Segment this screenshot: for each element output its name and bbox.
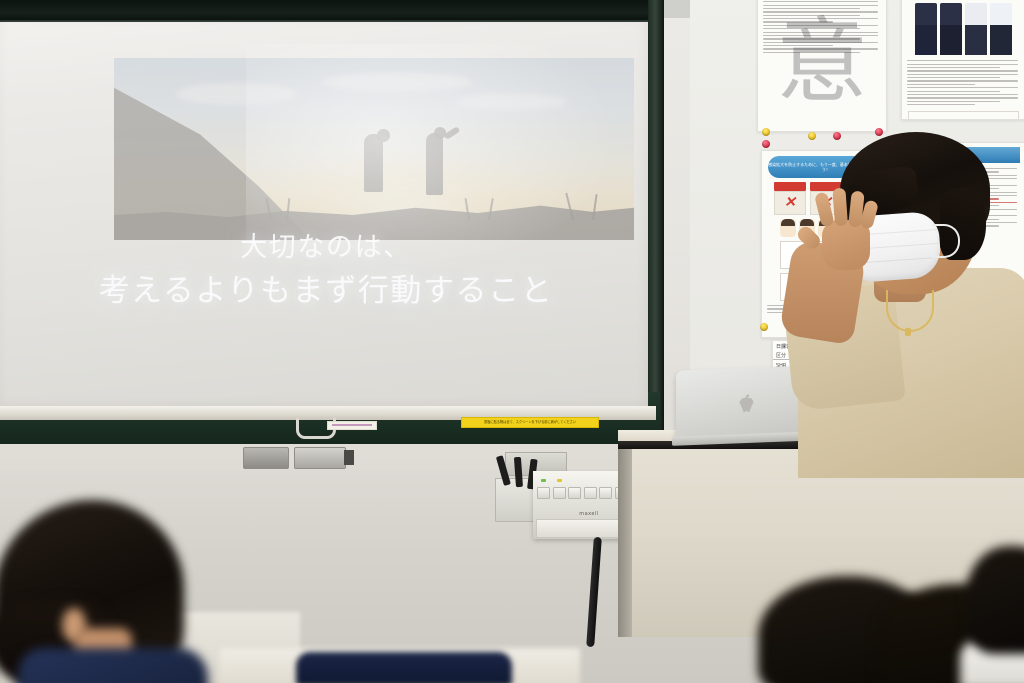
apple-logo-icon <box>738 394 755 415</box>
whiteboard-eraser[interactable] <box>243 447 289 469</box>
person-silhouette-left-head <box>377 129 390 142</box>
person-silhouette-right <box>426 133 443 195</box>
magnet-red-icon[interactable] <box>762 140 770 148</box>
poster-uniform-guide <box>901 0 1024 120</box>
slide-photo <box>114 58 634 240</box>
eraser-clip <box>344 450 354 465</box>
rail-sticker <box>327 421 377 430</box>
brand-label: maxell <box>579 511 599 517</box>
cloud <box>322 73 472 91</box>
caution-label: 黒板に貼る物は全て、スクリーンを下げる前に剥がしてください <box>461 417 599 428</box>
uniform-figure-row <box>902 0 1024 58</box>
magnet-yellow-icon[interactable] <box>760 323 768 331</box>
screen-housing <box>0 0 660 22</box>
presenter-raised-hand <box>812 188 878 272</box>
student-front-left-blazer <box>18 648 208 683</box>
whiteboard-eraser[interactable] <box>294 447 346 469</box>
control-button[interactable] <box>599 487 612 499</box>
uniform-figure <box>965 3 987 55</box>
control-button[interactable] <box>553 487 566 499</box>
palm <box>822 220 870 270</box>
uniform-figure <box>990 3 1012 55</box>
status-led-yellow <box>557 479 562 482</box>
calligraphy-character: 意 <box>776 16 868 108</box>
uniform-figure <box>940 3 962 55</box>
presenter <box>790 140 1024 470</box>
magnet-yellow-icon[interactable] <box>808 132 816 140</box>
power-led-green <box>541 479 546 482</box>
slide-text-block: 大切なのは、 考えるよりもまず行動すること <box>56 228 596 314</box>
student-chair <box>296 652 512 683</box>
magnet-red-icon[interactable] <box>875 128 883 136</box>
finger <box>832 188 848 227</box>
control-button[interactable] <box>537 487 550 499</box>
necklace-pendant <box>905 328 911 336</box>
podium-side-panel <box>618 449 632 637</box>
classroom-scene: 大切なのは、 考えるよりもまず行動すること 黒板に貼る物は全て、スクリーンを下げ… <box>0 0 1024 683</box>
caution-label-text: 黒板に貼る物は全て、スクリーンを下げる前に剥がしてください <box>462 418 598 426</box>
slide-headline-line2: 考えるよりもまず行動すること <box>56 269 596 314</box>
magnet-yellow-icon[interactable] <box>762 128 770 136</box>
slide-headline-line1: 大切なのは、 <box>56 228 596 267</box>
poster-calligraphy: 意 <box>757 0 887 132</box>
magnet-red-icon[interactable] <box>833 132 841 140</box>
projection-screen: 大切なのは、 考えるよりもまず行動すること <box>0 22 648 414</box>
person-silhouette-left <box>364 134 383 192</box>
control-button[interactable] <box>584 487 597 499</box>
uniform-figure <box>915 3 937 55</box>
finger <box>814 191 835 227</box>
chalkboard-right-frame <box>648 0 664 445</box>
control-button[interactable] <box>568 487 581 499</box>
